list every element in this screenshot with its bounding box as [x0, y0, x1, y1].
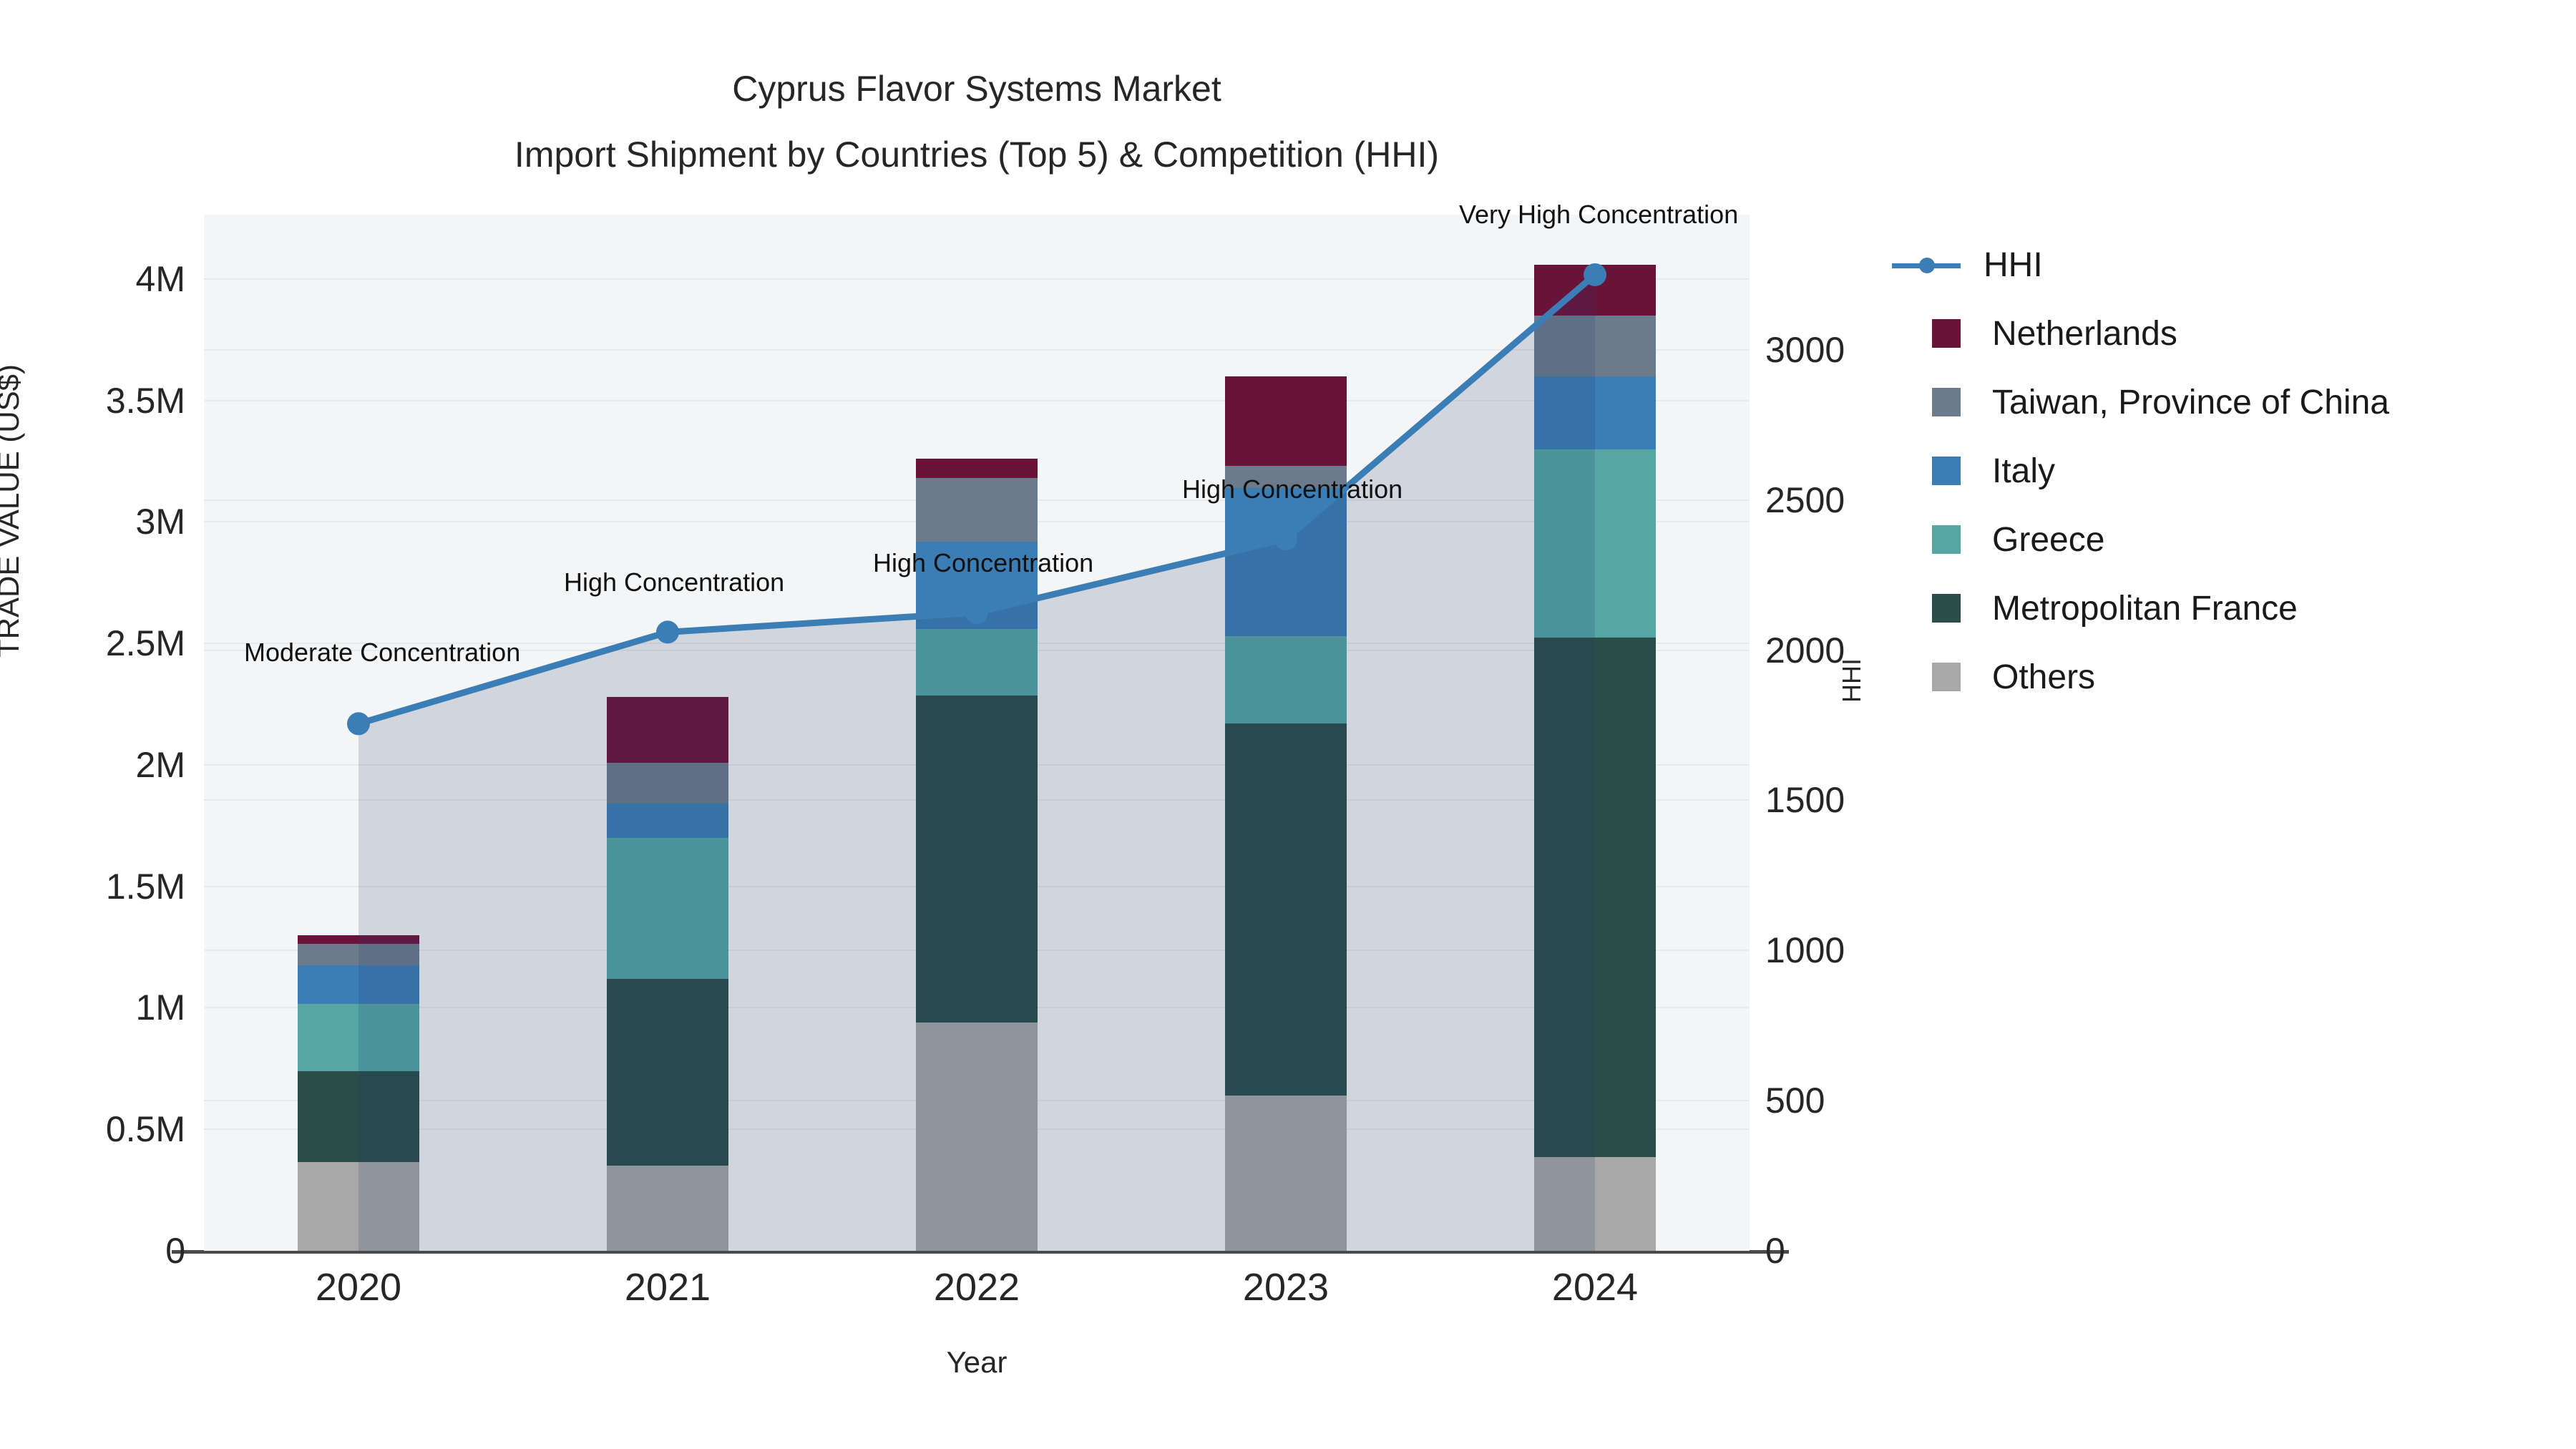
hhi-data-point[interactable]: [965, 601, 988, 624]
chart-title: Cyprus Flavor Systems Market: [0, 56, 1953, 122]
hhi-annotation-label: Very High Concentration: [1459, 200, 1738, 230]
hhi-line-overlay: [204, 215, 1750, 1251]
hhi-annotation-label: High Concentration: [564, 567, 784, 597]
y-axis-tick-label: 1M: [6, 990, 185, 1025]
legend-item-label: Metropolitan France: [1992, 589, 2298, 628]
x-axis-tick-label: 2023: [1179, 1265, 1393, 1309]
legend-item[interactable]: HHI: [1932, 230, 2562, 299]
legend-item[interactable]: Others: [1932, 643, 2562, 711]
legend-item[interactable]: Netherlands: [1932, 299, 2562, 368]
chart-legend: HHINetherlandsTaiwan, Province of ChinaI…: [1932, 230, 2562, 711]
y-axis-tick-label: 2.5M: [6, 625, 185, 661]
hhi-annotation-label: High Concentration: [873, 548, 1093, 578]
plot-area: Moderate ConcentrationHigh Concentration…: [204, 215, 1750, 1251]
hhi-data-point[interactable]: [656, 620, 679, 643]
x-axis-tick-label: 2022: [869, 1265, 1084, 1309]
y-axis-tick-label: 3.5M: [6, 383, 185, 419]
legend-item-label: HHI: [1984, 245, 2043, 285]
legend-item[interactable]: Taiwan, Province of China: [1932, 368, 2562, 436]
chart-canvas: Cyprus Flavor Systems Market Import Ship…: [0, 0, 2576, 1449]
legend-line-dot: [1919, 258, 1935, 273]
y2-axis-tick-label: 0: [1765, 1233, 1944, 1269]
y-axis-tick-label: 3M: [6, 504, 185, 540]
legend-item-label: Italy: [1992, 452, 2055, 491]
hhi-data-point[interactable]: [347, 712, 370, 735]
legend-color-swatch: [1932, 663, 1961, 691]
y2-axis-tick-label: 2000: [1765, 633, 1944, 668]
x-axis-title: Year: [0, 1345, 1953, 1380]
y2-axis-tick-label: 3000: [1765, 332, 1944, 368]
y2-axis-tick-label: 2500: [1765, 482, 1944, 518]
y-axis-tick-label: 0: [6, 1233, 185, 1269]
chart-title-block: Cyprus Flavor Systems Market Import Ship…: [0, 56, 1953, 187]
x-axis-tick-label: 2021: [560, 1265, 775, 1309]
legend-item-label: Taiwan, Province of China: [1992, 383, 2389, 422]
legend-color-swatch: [1932, 457, 1961, 485]
hhi-area-fill: [358, 275, 1595, 1251]
legend-color-swatch: [1932, 594, 1961, 623]
legend-item[interactable]: Italy: [1932, 436, 2562, 505]
legend-item[interactable]: Metropolitan France: [1932, 574, 2562, 643]
legend-color-swatch: [1932, 319, 1961, 348]
y-axis-tick-label: 1.5M: [6, 869, 185, 904]
y-axis-tick-label: 2M: [6, 747, 185, 783]
x-axis-tick-label: 2020: [251, 1265, 466, 1309]
legend-item-label: Netherlands: [1992, 314, 2177, 353]
y2-axis-tick-label: 1500: [1765, 782, 1944, 818]
hhi-data-point[interactable]: [1584, 263, 1606, 286]
hhi-data-point[interactable]: [1274, 527, 1297, 550]
y2-axis-tick-label: 1000: [1765, 932, 1944, 968]
legend-item-label: Others: [1992, 658, 2095, 697]
hhi-annotation-label: Moderate Concentration: [244, 638, 520, 668]
y-axis-tick-label: 4M: [6, 261, 185, 297]
legend-color-swatch: [1932, 388, 1961, 416]
legend-line-marker: [1892, 250, 1961, 279]
legend-item-label: Greece: [1992, 520, 2104, 560]
y-axis-tick-label: 0.5M: [6, 1111, 185, 1147]
legend-color-swatch: [1932, 525, 1961, 554]
x-axis-tick-label: 2024: [1488, 1265, 1702, 1309]
hhi-annotation-label: High Concentration: [1182, 474, 1402, 504]
chart-subtitle: Import Shipment by Countries (Top 5) & C…: [0, 122, 1953, 187]
legend-item[interactable]: Greece: [1932, 505, 2562, 574]
y2-axis-tick-label: 500: [1765, 1083, 1944, 1118]
